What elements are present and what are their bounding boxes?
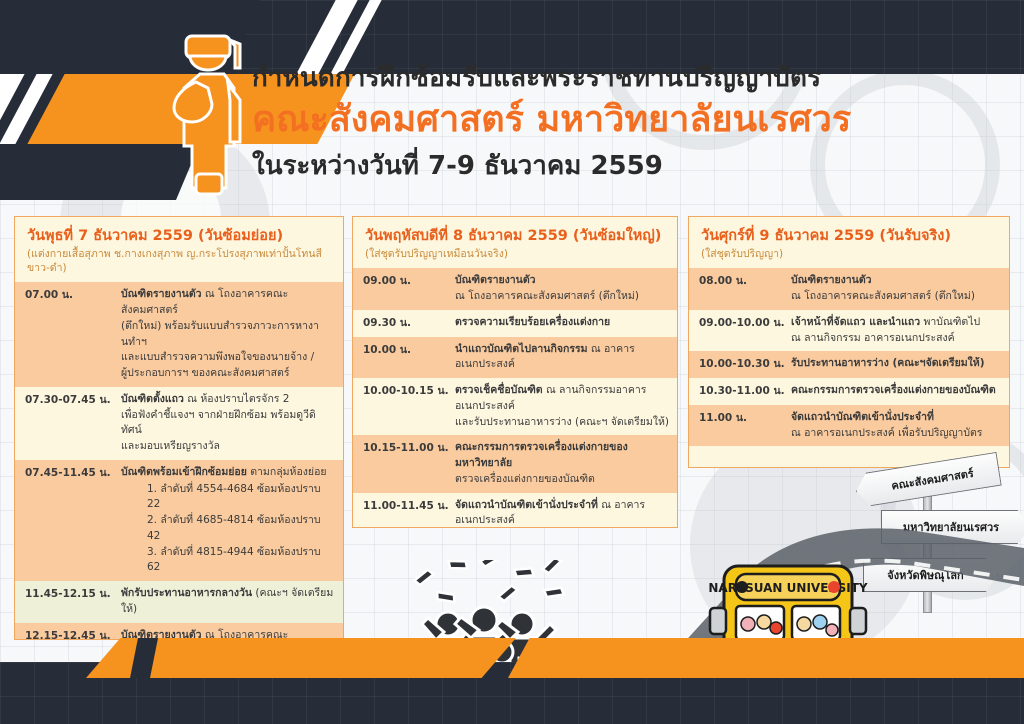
row-sub-list: 1. ลำดับที่ 4554-4684 ซ้อมห้องปราบ 222. …: [121, 482, 335, 577]
row-time: 11.00-11.45 น.: [363, 498, 455, 515]
row-activity: บัณฑิตรายงานตัว: [791, 274, 872, 286]
row-activity: รับประทานอาหารว่าง (คณะฯจัดเตรียมให้): [791, 357, 985, 369]
row-description: บัณฑิตพร้อมเข้าฝึกซ้อมย่อย ตามกลุ่มห้องย…: [121, 465, 335, 576]
row-description: บัณฑิตรายงานตัวณ โถงอาคารคณะสังคมศาสตร์ …: [455, 273, 669, 305]
schedule-row: 09.00 น.บัณฑิตรายงานตัวณ โถงอาคารคณะสังค…: [353, 268, 677, 310]
poster-canvas: กำหนดการฝึกซ้อมรับและพระราชทานปริญญาบัตร…: [0, 0, 1024, 724]
row-description: บัณฑิตรายงานตัวณ โถงอาคารคณะสังคมศาสตร์ …: [791, 273, 1001, 305]
schedule-row: 11.45-12.15 น.พักรับประทานอาหารกลางวัน (…: [15, 581, 343, 623]
schedule-row: 10.30-11.00 น.คณะกรรมการตรวจเครื่องแต่งก…: [689, 378, 1009, 405]
schedule-row: 07.30-07.45 น.บัณฑิตตั้งแถว ณ ห้องปราบไต…: [15, 387, 343, 460]
card-subtitle: (ใส่ชุดรับปริญญาเหมือนวันจริง): [365, 247, 667, 261]
row-sub-item: 3. ลำดับที่ 4815-4944 ซ้อมห้องปราบ 62: [147, 545, 335, 577]
card-title: วันพุธที่ 7 ธันวาคม 2559 (วันซ้อมย่อย): [27, 227, 333, 245]
schedule-row: 08.00 น.บัณฑิตรายงานตัวณ โถงอาคารคณะสังค…: [689, 268, 1009, 310]
schedule-rows: 09.00 น.บัณฑิตรายงานตัวณ โถงอาคารคณะสังค…: [353, 268, 677, 528]
row-activity: ตรวจเช็คชื่อบัณฑิต: [455, 384, 543, 396]
row-detail-line: ณ โถงอาคารคณะสังคมศาสตร์ (ตึกใหม่): [455, 289, 669, 305]
header-line-1: กำหนดการฝึกซ้อมรับและพระราชทานปริญญาบัตร: [252, 62, 1012, 95]
row-detail-line: เพื่อฟังคำชี้แจงฯ จากฝ่ายฝึกซ้อม พร้อมดู…: [121, 408, 335, 440]
schedule-row: 12.15-12.45 น.บัณฑิตรายงานตัว ณ โถงอาคาร…: [15, 623, 343, 640]
card-title: วันพฤหัสบดีที่ 8 ธันวาคม 2559 (วันซ้อมให…: [365, 227, 667, 245]
row-description: นำแถวบัณฑิตไปลานกิจกรรม ณ อาคารอเนกประสง…: [455, 342, 669, 374]
card-subtitle: (แต่งกายเสื้อสุภาพ ช.กางเกงสุภาพ ญ.กระโป…: [27, 247, 333, 275]
schedule-row: 07.00 น.บัณฑิตรายงานตัว ณ โถงอาคารคณะสัง…: [15, 282, 343, 387]
schedule-row: 10.15-11.00 น.คณะกรรมการตรวจเครื่องแต่งก…: [353, 435, 677, 492]
row-detail-line: ตรวจเครื่องแต่งกายของบัณฑิต: [455, 472, 669, 488]
row-activity: บัณฑิตรายงานตัว: [121, 288, 202, 300]
row-time: 11.00 น.: [699, 410, 791, 427]
schedule-card-day-3: วันศุกร์ที่ 9 ธันวาคม 2559 (วันรับจริง) …: [688, 216, 1010, 468]
svg-text:NARESUAN UNIVERSITY: NARESUAN UNIVERSITY: [708, 581, 868, 595]
row-description: พักรับประทานอาหารกลางวัน (คณะฯ จัดเตรียม…: [121, 586, 335, 618]
bottom-orange-ribbon-right: [508, 638, 1024, 678]
row-description: คณะกรรมการตรวจเครื่องแต่งกายของบัณฑิต: [791, 383, 1001, 399]
graduate-icon: [160, 26, 256, 202]
header-line-2: คณะสังคมศาสตร์ มหาวิทยาลัยนเรศวร: [252, 97, 1012, 144]
row-sub-item: 1. ลำดับที่ 4554-4684 ซ้อมห้องปราบ 22: [147, 482, 335, 514]
row-description: เจ้าหน้าที่จัดแถว และนำแถว พาบัณฑิตไปณ ล…: [791, 315, 1001, 347]
schedule-card-day-2: วันพฤหัสบดีที่ 8 ธันวาคม 2559 (วันซ้อมให…: [352, 216, 678, 528]
row-activity: บัณฑิตรายงานตัว: [455, 274, 536, 286]
row-activity: บัณฑิตตั้งแถว: [121, 393, 184, 405]
schedule-rows: 07.00 น.บัณฑิตรายงานตัว ณ โถงอาคารคณะสัง…: [15, 282, 343, 640]
schedule-row: 07.45-11.45 น.บัณฑิตพร้อมเข้าฝึกซ้อมย่อย…: [15, 460, 343, 581]
row-time: 10.00-10.30 น.: [699, 356, 791, 373]
row-time: 07.45-11.45 น.: [25, 465, 121, 482]
row-time: 10.15-11.00 น.: [363, 440, 455, 457]
row-detail-line: ณ โถงอาคารคณะสังคมศาสตร์ (ตึกใหม่): [791, 289, 1001, 305]
row-time: 07.00 น.: [25, 287, 121, 304]
row-location: ณ ห้องปราบไตรจักร 2: [184, 393, 290, 405]
row-activity: นำแถวบัณฑิตไปลานกิจกรรม: [455, 343, 588, 355]
row-time: 12.15-12.45 น.: [25, 628, 121, 640]
row-location: พาบัณฑิตไป: [920, 316, 980, 328]
row-time: 10.00-10.15 น.: [363, 383, 455, 400]
row-activity: คณะกรรมการตรวจเครื่องแต่งกายของมหาวิทยาล…: [455, 441, 628, 469]
row-time: 11.45-12.15 น.: [25, 586, 121, 603]
row-detail-line: ณ อาคารอเนกประสงค์ เพื่อรับปริญญาบัตร: [791, 426, 1001, 442]
row-time: 07.30-07.45 น.: [25, 392, 121, 409]
row-description: คณะกรรมการตรวจเครื่องแต่งกายของมหาวิทยาล…: [455, 440, 669, 487]
row-description: จัดแถวนำบัณฑิตเข้านั่งประจำที่ณ อาคารอเน…: [791, 410, 1001, 442]
row-time: 08.00 น.: [699, 273, 791, 290]
row-activity: ตรวจความเรียบร้อยเครื่องแต่งกาย: [455, 316, 610, 328]
card-header: วันพฤหัสบดีที่ 8 ธันวาคม 2559 (วันซ้อมให…: [353, 217, 677, 268]
row-activity: พักรับประทานอาหารกลางวัน: [121, 587, 252, 599]
row-activity: เจ้าหน้าที่จัดแถว และนำแถว: [791, 316, 920, 328]
schedule-row: 09.30 น.ตรวจความเรียบร้อยเครื่องแต่งกาย: [353, 310, 677, 337]
row-detail-line: ผู้ประกอบการฯ ของคณะสังคมศาสตร์: [121, 366, 335, 382]
row-detail-line: (ตึกใหม่) พร้อมรับแบบสำรวจภาวะการหางานทำ…: [121, 319, 335, 351]
schedule-row: 10.00-10.30 น.รับประทานอาหารว่าง (คณะฯจั…: [689, 351, 1009, 378]
row-activity: บัณฑิตพร้อมเข้าฝึกซ้อมย่อย: [121, 466, 247, 478]
row-location: ตามกลุ่มห้องย่อย: [247, 466, 327, 478]
header-line-3: ในระหว่างวันที่ 7-9 ธันวาคม 2559: [252, 145, 1012, 186]
row-description: ตรวจความเรียบร้อยเครื่องแต่งกาย: [455, 315, 669, 331]
card-header: วันพุธที่ 7 ธันวาคม 2559 (วันซ้อมย่อย) (…: [15, 217, 343, 282]
row-description: รับประทานอาหารว่าง (คณะฯจัดเตรียมให้): [791, 356, 1001, 372]
row-detail-line: และมอบเหรียญรางวัล: [121, 439, 335, 455]
row-time: 09.30 น.: [363, 315, 455, 332]
schedule-row: 10.00 น.นำแถวบัณฑิตไปลานกิจกรรม ณ อาคารอ…: [353, 337, 677, 379]
schedule-card-day-1: วันพุธที่ 7 ธันวาคม 2559 (วันซ้อมย่อย) (…: [14, 216, 344, 640]
row-description: ตรวจเช็คชื่อบัณฑิต ณ ลานกิจกรรมอาคารอเนก…: [455, 383, 669, 430]
row-description: บัณฑิตรายงานตัว ณ โถงอาคารคณะสังคมศาสตร์…: [121, 287, 335, 382]
card-subtitle: (ใส่ชุดรับปริญญา): [701, 247, 999, 261]
row-activity: จัดแถวนำบัณฑิตเข้านั่งประจำที่: [791, 411, 934, 423]
row-time: 10.30-11.00 น.: [699, 383, 791, 400]
row-time: 10.00 น.: [363, 342, 455, 359]
row-sub-item: 2. ลำดับที่ 4685-4814 ซ้อมห้องปราบ 42: [147, 513, 335, 545]
schedule-row: 09.00-10.00 น.เจ้าหน้าที่จัดแถว และนำแถว…: [689, 310, 1009, 352]
schedule-row: 11.00-11.45 น.จัดแถวนำบัณฑิตเข้านั่งประจ…: [353, 493, 677, 528]
header-text-block: กำหนดการฝึกซ้อมรับและพระราชทานปริญญาบัตร…: [252, 62, 1012, 186]
card-header: วันศุกร์ที่ 9 ธันวาคม 2559 (วันรับจริง) …: [689, 217, 1009, 268]
schedule-row: 11.00 น.จัดแถวนำบัณฑิตเข้านั่งประจำที่ณ …: [689, 405, 1009, 447]
row-activity: คณะกรรมการตรวจเครื่องแต่งกายของบัณฑิต: [791, 384, 996, 396]
row-detail-line: และรับประทานอาหารว่าง (คณะฯ จัดเตรียมให้…: [455, 415, 669, 431]
schedule-rows: 08.00 น.บัณฑิตรายงานตัวณ โถงอาคารคณะสังค…: [689, 268, 1009, 446]
schedule-row: 10.00-10.15 น.ตรวจเช็คชื่อบัณฑิต ณ ลานกิ…: [353, 378, 677, 435]
card-title: วันศุกร์ที่ 9 ธันวาคม 2559 (วันรับจริง): [701, 227, 999, 245]
row-time: 09.00 น.: [363, 273, 455, 290]
row-detail-line: และแบบสำรวจความพึงพอใจของนายจ้าง /: [121, 350, 335, 366]
row-detail-line: ณ ลานกิจกรรม อาคารอเนกประสงค์: [791, 331, 1001, 347]
row-activity: จัดแถวนำบัณฑิตเข้านั่งประจำที่: [455, 499, 598, 511]
row-description: บัณฑิตตั้งแถว ณ ห้องปราบไตรจักร 2เพื่อฟั…: [121, 392, 335, 455]
row-time: 09.00-10.00 น.: [699, 315, 791, 332]
